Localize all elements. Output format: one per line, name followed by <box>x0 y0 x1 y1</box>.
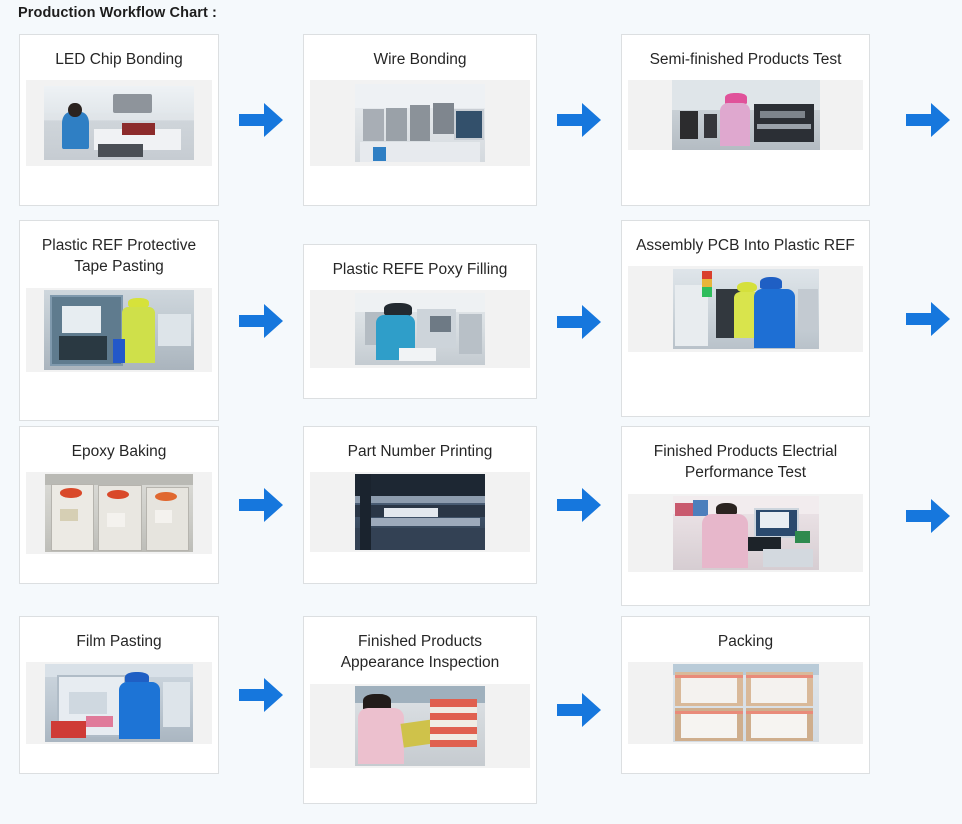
workflow-row: Film Pasting <box>0 616 962 806</box>
step-card-semi-finished-products-test[interactable]: Semi-finished Products Test <box>621 34 870 206</box>
arrow-right-icon <box>238 301 284 341</box>
workflow-row: LED Chip Bonding <box>0 34 962 220</box>
workflow-step[interactable]: Assembly PCB Into Plastic REF <box>621 220 960 417</box>
workflow-step[interactable]: Semi-finished Products Test <box>621 34 960 206</box>
arrow-slot <box>537 302 621 342</box>
step-image-frame <box>26 80 212 166</box>
step-label: Part Number Printing <box>304 427 536 472</box>
arrow-slot <box>219 485 303 525</box>
step-label: Packing <box>622 617 869 662</box>
arrow-right-icon <box>905 100 951 140</box>
step-image-frame <box>310 290 530 368</box>
step-photo-led-chip-bonding <box>44 86 194 160</box>
step-label: Semi-finished Products Test <box>622 35 869 80</box>
arrow-right-icon <box>556 302 602 342</box>
arrow-right-icon <box>238 100 284 140</box>
step-card-plastic-refe-poxy-filling[interactable]: Plastic REFE Poxy Filling <box>303 244 537 399</box>
step-label: Assembly PCB Into Plastic REF <box>622 221 869 266</box>
step-image-frame <box>26 662 212 744</box>
step-label: Finished Products Appearance Inspection <box>304 617 536 684</box>
workflow-step[interactable]: LED Chip Bonding <box>19 34 303 206</box>
step-label: Plastic REF Protective Tape Pasting <box>20 221 218 288</box>
workflow-row: Plastic REF Protective Tape Pasting <box>0 220 962 426</box>
step-label: Finished Products Electrial Performance … <box>622 427 869 494</box>
workflow-step[interactable]: Epoxy Baking <box>19 426 303 584</box>
arrow-slot <box>870 100 960 140</box>
step-label: LED Chip Bonding <box>20 35 218 80</box>
workflow-step[interactable]: Part Number Printing <box>303 426 621 584</box>
step-photo-plastic-refe-poxy-filling <box>355 293 485 365</box>
step-label: Plastic REFE Poxy Filling <box>304 245 536 290</box>
step-photo-film-pasting <box>45 664 193 742</box>
arrow-right-icon <box>905 299 951 339</box>
step-image-frame <box>310 684 530 768</box>
step-label: Wire Bonding <box>304 35 536 80</box>
step-image-frame <box>628 494 863 572</box>
arrow-right-icon <box>238 485 284 525</box>
step-card-plastic-ref-protective-tape-pasting[interactable]: Plastic REF Protective Tape Pasting <box>19 220 219 421</box>
arrow-slot <box>537 485 621 525</box>
workflow-step[interactable]: Film Pasting <box>19 616 303 774</box>
page-title: Production Workflow Chart : <box>18 5 217 21</box>
step-card-led-chip-bonding[interactable]: LED Chip Bonding <box>19 34 219 206</box>
step-label: Film Pasting <box>20 617 218 662</box>
step-card-film-pasting[interactable]: Film Pasting <box>19 616 219 774</box>
step-image-frame <box>628 662 863 744</box>
workflow-step[interactable]: Finished Products Appearance Inspection <box>303 616 621 804</box>
arrow-slot <box>537 100 621 140</box>
step-photo-assembly-pcb-into-plastic-ref <box>673 269 819 349</box>
step-image-frame <box>26 472 212 554</box>
step-label: Epoxy Baking <box>20 427 218 472</box>
step-card-wire-bonding[interactable]: Wire Bonding <box>303 34 537 206</box>
step-photo-epoxy-baking <box>45 474 193 552</box>
step-card-epoxy-baking[interactable]: Epoxy Baking <box>19 426 219 584</box>
workflow-step[interactable]: Plastic REFE Poxy Filling <box>303 244 621 399</box>
step-photo-plastic-ref-protective-tape-pasting <box>44 290 194 370</box>
workflow-chart: LED Chip Bonding <box>0 34 962 806</box>
step-card-packing[interactable]: Packing <box>621 616 870 774</box>
arrow-right-icon <box>238 675 284 715</box>
arrow-slot <box>219 675 303 715</box>
step-photo-semi-finished-products-test <box>672 80 820 150</box>
arrow-slot <box>219 301 303 341</box>
arrow-slot <box>870 496 960 536</box>
step-image-frame <box>310 472 530 552</box>
workflow-step[interactable]: Wire Bonding <box>303 34 621 206</box>
step-image-frame <box>310 80 530 166</box>
step-card-finished-products-electrial-performance-test[interactable]: Finished Products Electrial Performance … <box>621 426 870 606</box>
step-image-frame <box>628 266 863 352</box>
workflow-step[interactable]: Plastic REF Protective Tape Pasting <box>19 220 303 421</box>
arrow-right-icon <box>905 496 951 536</box>
step-photo-finished-products-appearance-inspection <box>355 686 485 766</box>
arrow-slot <box>219 100 303 140</box>
step-photo-packing <box>673 664 819 742</box>
step-photo-finished-products-electrial-performance-test <box>673 496 819 570</box>
step-photo-part-number-printing <box>355 474 485 550</box>
arrow-slot <box>537 690 621 730</box>
workflow-row: Epoxy Baking <box>0 426 962 616</box>
arrow-slot <box>870 299 960 339</box>
step-image-frame <box>26 288 212 372</box>
step-image-frame <box>628 80 863 150</box>
step-card-part-number-printing[interactable]: Part Number Printing <box>303 426 537 584</box>
step-card-assembly-pcb-into-plastic-ref[interactable]: Assembly PCB Into Plastic REF <box>621 220 870 417</box>
arrow-right-icon <box>556 690 602 730</box>
step-card-finished-products-appearance-inspection[interactable]: Finished Products Appearance Inspection <box>303 616 537 804</box>
arrow-right-icon <box>556 485 602 525</box>
step-photo-wire-bonding <box>355 84 485 162</box>
workflow-step[interactable]: Packing <box>621 616 960 774</box>
arrow-right-icon <box>556 100 602 140</box>
workflow-step[interactable]: Finished Products Electrial Performance … <box>621 426 960 606</box>
